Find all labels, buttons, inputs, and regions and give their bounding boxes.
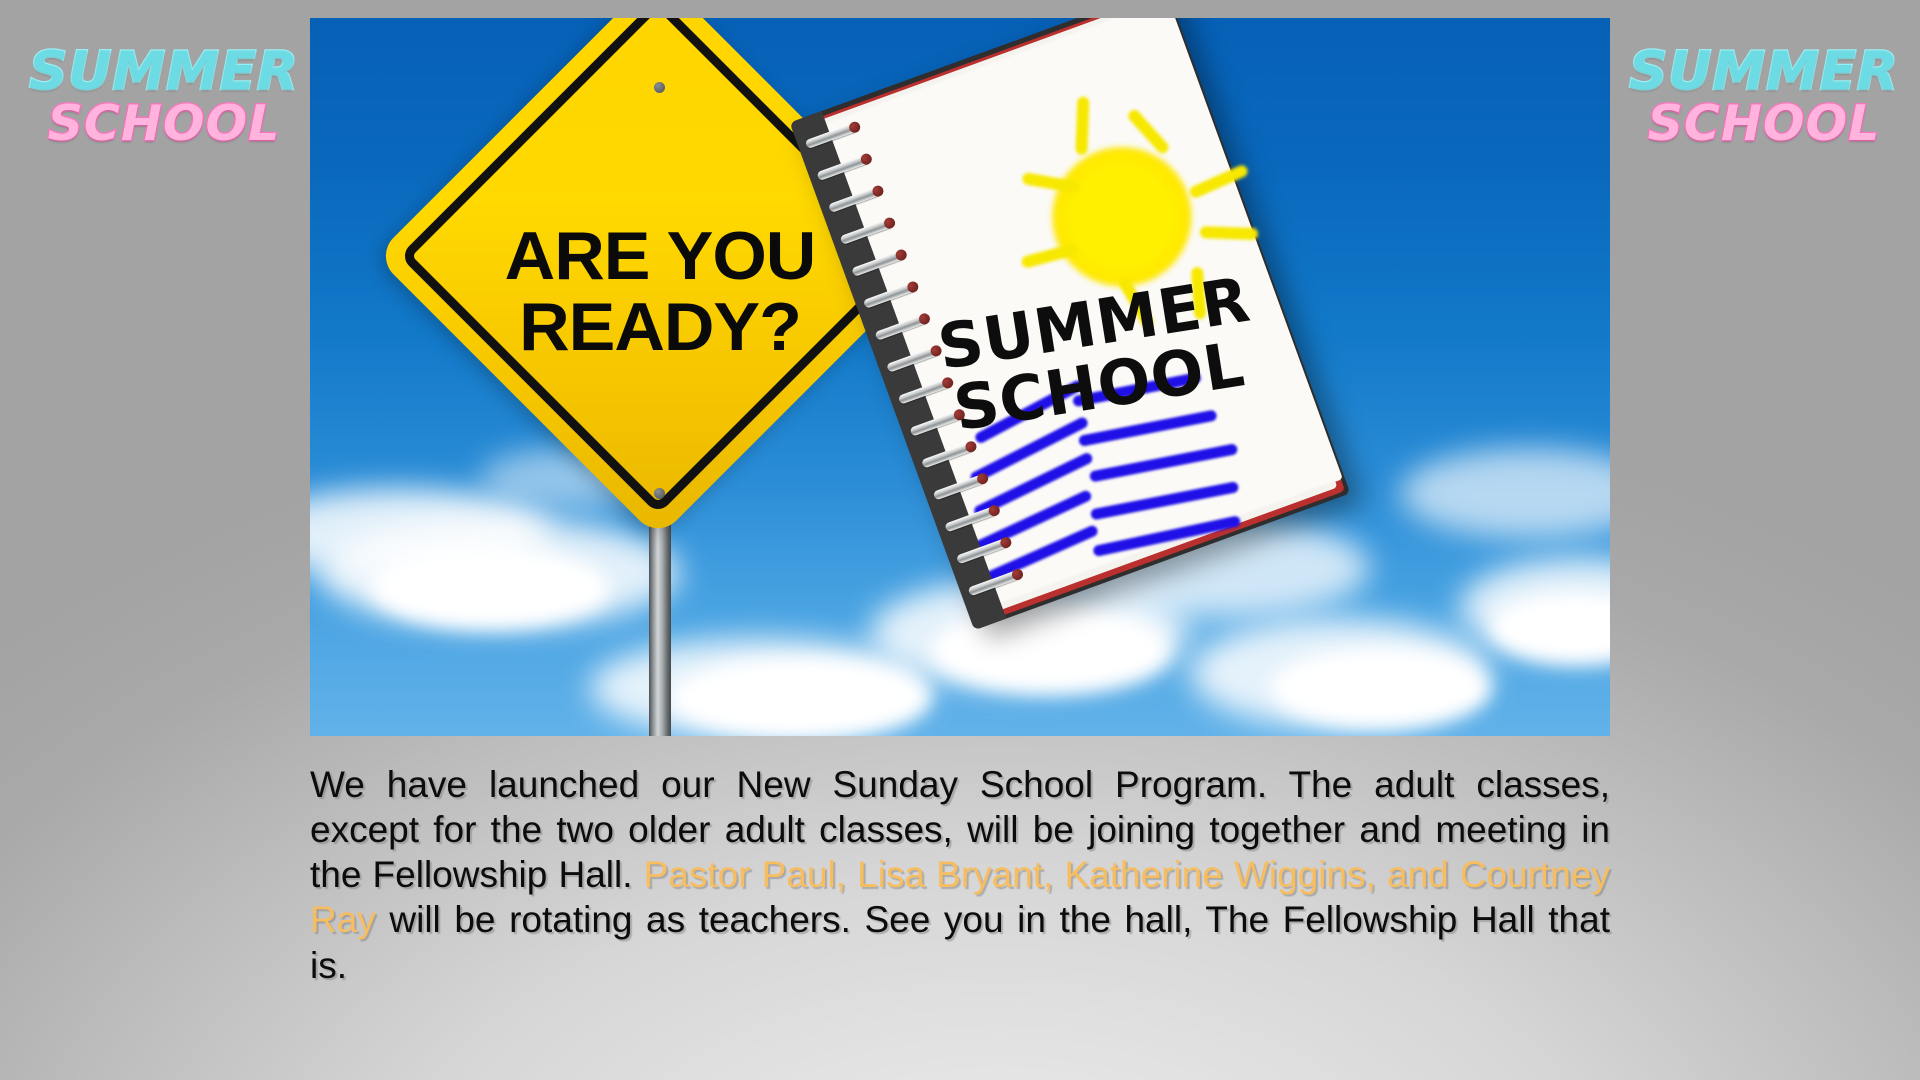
cloud-shape xyxy=(930,608,1170,693)
sign-bolt-icon xyxy=(654,488,665,499)
wave-line xyxy=(1090,481,1239,520)
wordmark-right-summer: SUMMER xyxy=(1614,48,1914,97)
cloud-shape xyxy=(1270,648,1490,728)
sun-ray-icon xyxy=(1200,226,1258,240)
paragraph-part2: will be rotating as teachers. See you in… xyxy=(310,899,1610,985)
sign-text-line2: READY? xyxy=(413,292,907,363)
wordmark-right-school: SCHOOL xyxy=(1614,101,1914,146)
wordmark-left-school: SCHOOL xyxy=(14,101,314,146)
wordmark-right: SUMMER SCHOOL xyxy=(1614,48,1914,146)
wave-line xyxy=(1089,443,1238,482)
announcement-paragraph: We have launched our New Sunday School P… xyxy=(310,762,1610,988)
wordmark-left: SUMMER SCHOOL xyxy=(14,48,314,146)
sun-ray-icon xyxy=(1075,97,1089,155)
notebook-text: SUMMER SCHOOL xyxy=(934,265,1280,442)
hero-image: ARE YOU READY? xyxy=(310,18,1610,736)
cloud-shape xyxy=(1400,448,1610,538)
wordmark-left-summer: SUMMER xyxy=(14,48,314,97)
slide-canvas: SUMMER SCHOOL SUMMER SCHOOL ARE YOU xyxy=(0,0,1920,1080)
sign-bolt-icon xyxy=(654,82,665,93)
